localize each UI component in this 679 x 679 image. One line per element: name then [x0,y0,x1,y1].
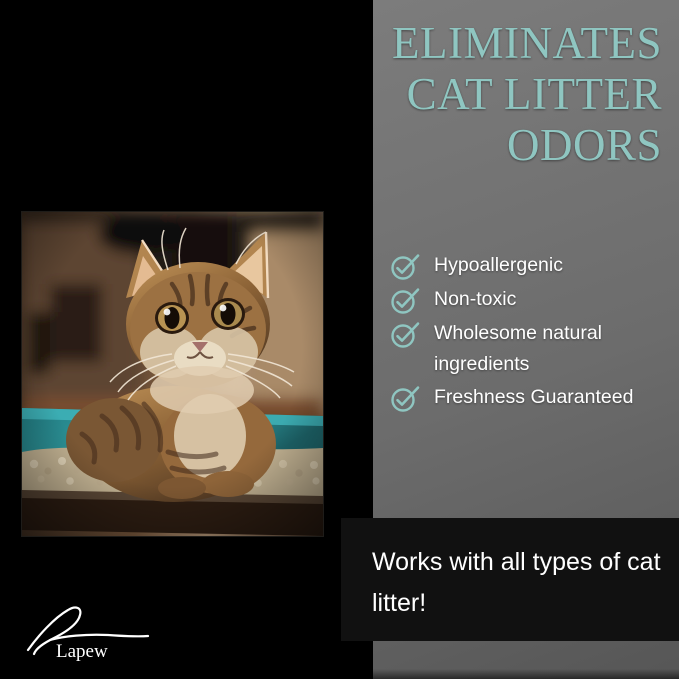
feature-item: Non-toxic [390,284,670,316]
headline-line-3: ODORS [290,120,662,171]
feature-label: Freshness Guaranteed [434,382,633,413]
product-ad-image: ELIMINATES CAT LITTER ODORS Hypoallergen… [0,0,679,679]
brand-logo: Lapew [24,602,154,662]
check-circle-icon [390,252,420,282]
feature-item: Wholesome natural ingredients [390,318,670,380]
logo-wordmark: Lapew [56,641,108,662]
feature-label: Wholesome natural ingredients [434,318,670,380]
callout-text: Works with all types of cat litter! [372,542,662,624]
feature-item: Hypoallergenic [390,250,670,282]
headline-line-2: CAT LITTER [290,69,662,120]
feature-label: Non-toxic [434,284,516,315]
check-circle-icon [390,384,420,414]
check-circle-icon [390,286,420,316]
feature-item: Freshness Guaranteed [390,382,670,414]
headline: ELIMINATES CAT LITTER ODORS [290,18,662,171]
callout-box: Works with all types of cat litter! [341,518,679,641]
check-circle-icon [390,320,420,350]
feature-list: Hypoallergenic Non-toxic Wholesome natur… [390,250,670,416]
feature-label: Hypoallergenic [434,250,563,281]
headline-line-1: ELIMINATES [290,18,662,69]
kitten-litter-box-photo [22,212,323,536]
